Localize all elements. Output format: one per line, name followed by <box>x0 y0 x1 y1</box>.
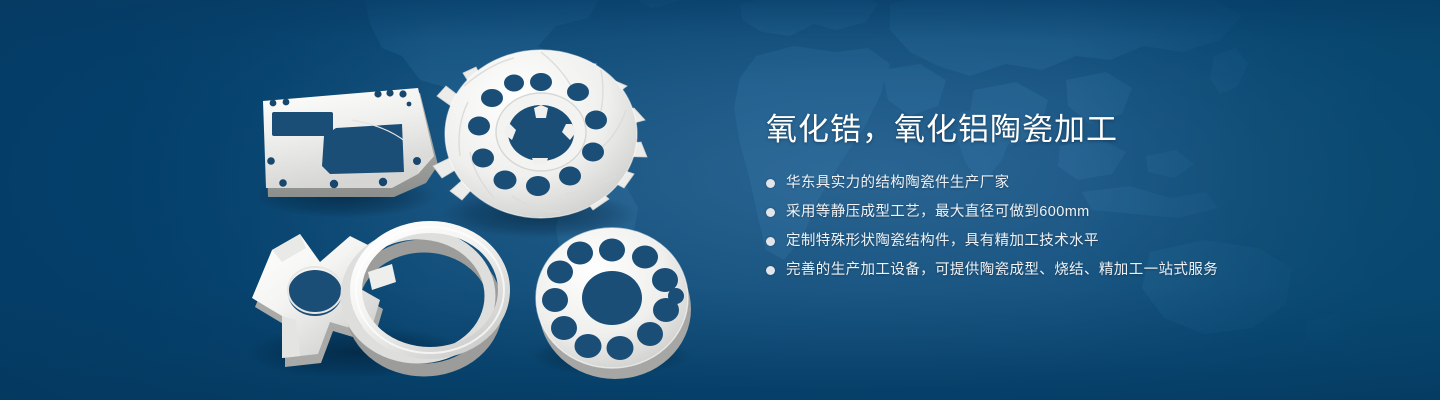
feature-text: 华东具实力的结构陶瓷件生产厂家 <box>786 172 1010 194</box>
bullet-dot-icon <box>766 266 775 275</box>
ceramic-plate-photo <box>263 88 438 197</box>
feature-list: 华东具实力的结构陶瓷件生产厂家 采用等静压成型工艺，最大直径可做到600mm 定… <box>766 172 1366 281</box>
hero-banner: 氧化锆，氧化铝陶瓷加工 华东具实力的结构陶瓷件生产厂家 采用等静压成型工艺，最大… <box>0 0 1440 400</box>
ceramic-hole-disc-photo <box>536 228 691 379</box>
feature-text: 定制特殊形状陶瓷结构件，具有精加工技术水平 <box>786 230 1099 252</box>
list-item: 采用等静压成型工艺，最大直径可做到600mm <box>766 201 1366 223</box>
page-title: 氧化锆，氧化铝陶瓷加工 <box>766 108 1366 152</box>
list-item: 定制特殊形状陶瓷结构件，具有精加工技术水平 <box>766 230 1366 252</box>
banner-copy: 氧化锆，氧化铝陶瓷加工 华东具实力的结构陶瓷件生产厂家 采用等静压成型工艺，最大… <box>766 108 1366 288</box>
list-item: 华东具实力的结构陶瓷件生产厂家 <box>766 172 1366 194</box>
bullet-dot-icon <box>766 179 775 188</box>
feature-text: 采用等静压成型工艺，最大直径可做到600mm <box>786 201 1090 223</box>
bullet-dot-icon <box>766 208 775 217</box>
list-item: 完善的生产加工设备，可提供陶瓷成型、烧结、精加工一站式服务 <box>766 259 1366 281</box>
bullet-dot-icon <box>766 237 775 246</box>
ceramic-impeller-photo <box>433 50 647 218</box>
product-photo-cluster <box>0 0 740 400</box>
feature-text: 完善的生产加工设备，可提供陶瓷成型、烧结、精加工一站式服务 <box>786 259 1218 281</box>
